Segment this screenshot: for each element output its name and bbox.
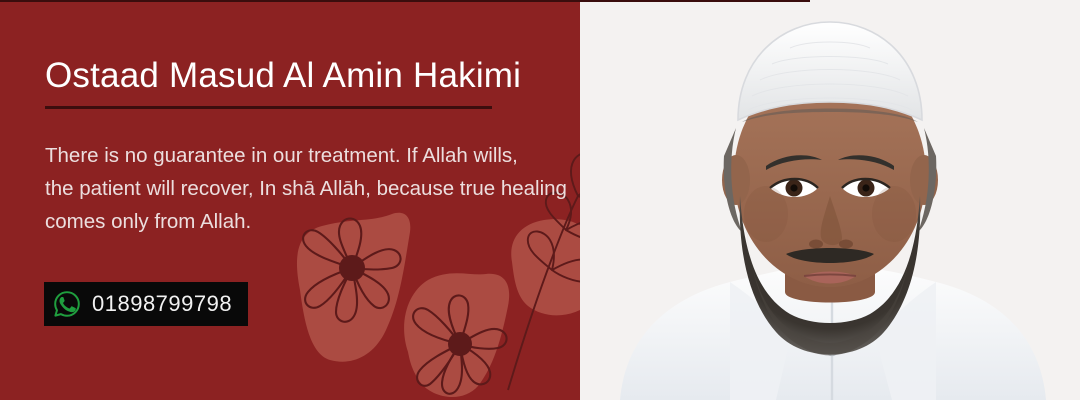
top-hairline (0, 0, 810, 2)
quote-line-3: comes only from Allah. (45, 205, 685, 238)
page-title: Ostaad Masud Al Amin Hakimi (45, 0, 685, 96)
whatsapp-contact-badge[interactable]: 01898799798 (44, 282, 248, 326)
whatsapp-phone-number: 01898799798 (92, 291, 232, 317)
quote-line-2: the patient will recover, In shā Allāh, … (45, 172, 685, 205)
text-content: Ostaad Masud Al Amin Hakimi There is no … (45, 0, 685, 238)
quote-text: There is no guarantee in our treatment. … (45, 109, 685, 238)
quote-line-1: There is no guarantee in our treatment. … (45, 139, 685, 172)
whatsapp-icon (52, 289, 82, 319)
promo-banner: Ostaad Masud Al Amin Hakimi There is no … (0, 0, 1080, 400)
